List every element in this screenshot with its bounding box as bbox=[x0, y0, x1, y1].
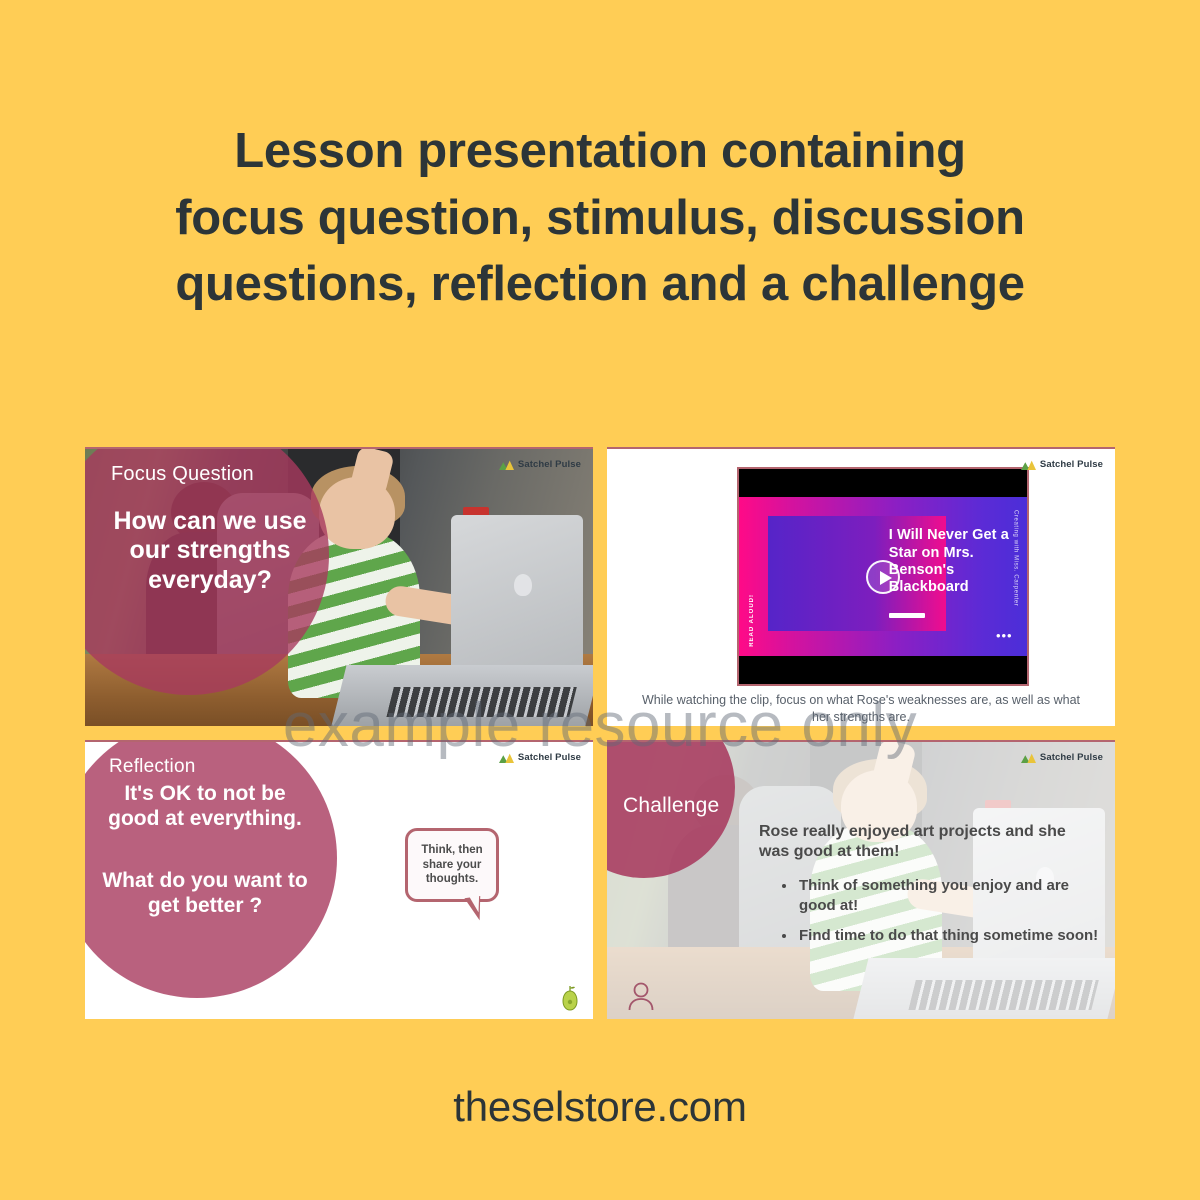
satchel-pulse-logo-text: Satchel Pulse bbox=[518, 752, 581, 763]
satchel-pulse-logo-text: Satchel Pulse bbox=[1040, 752, 1103, 763]
satchel-pulse-logo: Satchel Pulse bbox=[499, 752, 581, 763]
satchel-pulse-logo-text: Satchel Pulse bbox=[518, 459, 581, 470]
slide-eyebrow-label: Focus Question bbox=[111, 463, 254, 486]
satchel-pulse-logo: Satchel Pulse bbox=[1021, 459, 1103, 470]
list-item: Think of something you enjoy and are goo… bbox=[797, 876, 1099, 915]
video-creator-label: Creating with Miss. Carpenter bbox=[1012, 510, 1018, 606]
video-title-rule bbox=[889, 613, 925, 618]
slide-focus-question[interactable]: Focus Question How can we use our streng… bbox=[85, 447, 593, 726]
challenge-bullet-list: Think of something you enjoy and are goo… bbox=[779, 876, 1099, 957]
slide-eyebrow-label: Challenge bbox=[623, 794, 719, 818]
stimulus-caption: While watching the clip, focus on what R… bbox=[637, 692, 1085, 725]
page-title-line-3: questions, reflection and a challenge bbox=[90, 251, 1110, 318]
person-icon bbox=[625, 979, 657, 1011]
footer-url: theselstore.com bbox=[0, 1083, 1200, 1131]
page-title-line-1: Lesson presentation containing bbox=[90, 118, 1110, 185]
reflection-prompt: What do you want to get better ? bbox=[93, 869, 317, 919]
video-player[interactable]: I Will Never Get a Star on Mrs. Benson's… bbox=[737, 467, 1029, 686]
speech-bubble: Think, then share your thoughts. bbox=[405, 828, 499, 902]
slide-eyebrow-label: Reflection bbox=[109, 756, 196, 778]
reflection-statement: It's OK to not be good at everything. bbox=[97, 782, 313, 832]
speech-bubble-tail bbox=[464, 896, 483, 922]
satchel-pulse-logo-text: Satchel Pulse bbox=[1040, 459, 1103, 470]
speech-bubble-text: Think, then share your thoughts. bbox=[408, 831, 496, 899]
mountains-icon bbox=[499, 753, 514, 763]
mountains-icon bbox=[1021, 460, 1036, 470]
mountains-icon bbox=[499, 460, 514, 470]
satchel-pulse-logo: Satchel Pulse bbox=[1021, 752, 1103, 763]
challenge-lead-text: Rose really enjoyed art projects and she… bbox=[759, 822, 1089, 863]
play-icon[interactable] bbox=[866, 560, 900, 594]
slide-grid: Focus Question How can we use our streng… bbox=[85, 447, 1115, 1033]
slide-reflection[interactable]: Reflection It's OK to not be good at eve… bbox=[85, 740, 593, 1019]
video-overflow-icon[interactable]: ••• bbox=[996, 629, 1013, 642]
slide-stimulus[interactable]: I Will Never Get a Star on Mrs. Benson's… bbox=[607, 447, 1115, 726]
focus-question-text: How can we use our strengths everyday? bbox=[103, 507, 317, 595]
read-aloud-badge: READ ALOUD! bbox=[749, 594, 755, 647]
page-title: Lesson presentation containing focus que… bbox=[90, 118, 1110, 318]
pear-icon bbox=[561, 985, 579, 1011]
mountains-icon bbox=[1021, 753, 1036, 763]
list-item: Find time to do that thing sometime soon… bbox=[797, 926, 1099, 946]
video-title: I Will Never Get a Star on Mrs. Benson's… bbox=[889, 527, 1010, 597]
slide-challenge[interactable]: Challenge Rose really enjoyed art projec… bbox=[607, 740, 1115, 1019]
page-title-line-2: focus question, stimulus, discussion bbox=[90, 185, 1110, 252]
satchel-pulse-logo: Satchel Pulse bbox=[499, 459, 581, 470]
